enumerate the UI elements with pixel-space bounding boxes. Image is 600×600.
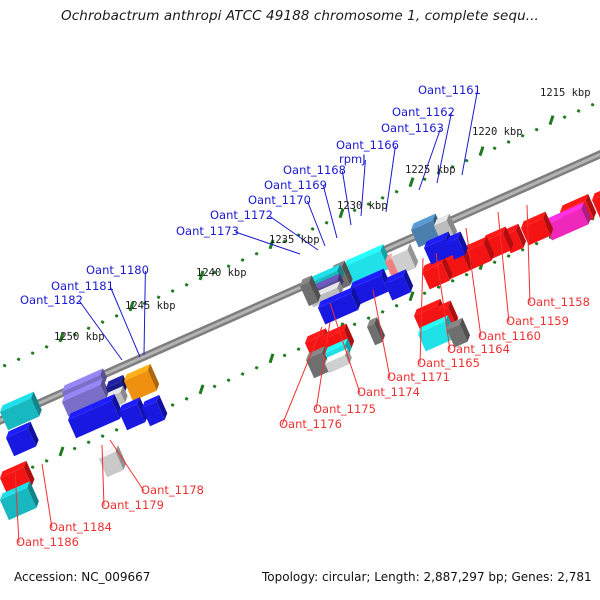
gene-label-oant_1180[interactable]: Oant_1180 xyxy=(86,265,149,277)
ruler-minor-tick xyxy=(382,311,383,314)
ruler-major-tick xyxy=(480,147,483,156)
ruler-minor-tick xyxy=(494,147,495,150)
ruler-minor-tick xyxy=(186,398,187,401)
ruler-tick-label: 1245 kbp xyxy=(125,301,176,312)
ruler-minor-tick xyxy=(102,435,103,438)
gene-label-oant_1170[interactable]: Oant_1170 xyxy=(248,195,311,207)
ruler-minor-tick xyxy=(522,249,523,252)
gene-label-oant_1172[interactable]: Oant_1172 xyxy=(210,210,273,222)
ruler-minor-tick xyxy=(172,404,173,407)
gene-label-oant_1165[interactable]: Oant_1165 xyxy=(417,358,480,370)
ruler-minor-tick xyxy=(32,466,33,469)
page-title: Ochrobactrum anthropi ATCC 49188 chromos… xyxy=(0,8,600,24)
ruler-minor-tick xyxy=(382,197,383,200)
genome-viewer: Ochrobactrum anthropi ATCC 49188 chromos… xyxy=(0,0,600,600)
ruler-minor-tick xyxy=(424,292,425,295)
ruler-minor-tick xyxy=(438,286,439,289)
ruler-minor-tick xyxy=(32,352,33,355)
ruler-minor-tick xyxy=(536,242,537,245)
ruler-minor-tick xyxy=(536,128,537,131)
ruler-minor-tick xyxy=(18,358,19,361)
label-leader-line xyxy=(144,271,145,355)
ruler-minor-tick xyxy=(326,221,327,224)
ruler-minor-tick xyxy=(102,321,103,324)
ruler-tick-label: 1235 kbp xyxy=(269,235,320,246)
ruler-minor-tick xyxy=(466,159,467,162)
gene-glyph[interactable] xyxy=(122,364,161,401)
ruler-minor-tick xyxy=(396,304,397,307)
ruler-major-tick xyxy=(550,116,553,125)
ruler-minor-tick xyxy=(186,284,187,287)
gene-label-oant_1162[interactable]: Oant_1162 xyxy=(392,107,455,119)
label-leader-line xyxy=(342,171,351,225)
gene-label-oant_1184[interactable]: Oant_1184 xyxy=(49,522,112,534)
ruler-minor-tick xyxy=(508,255,509,258)
ruler-major-tick xyxy=(270,354,273,363)
ruler-minor-tick xyxy=(354,323,355,326)
gene-label-oant_1186[interactable]: Oant_1186 xyxy=(16,537,79,549)
gene-label-oant_1174[interactable]: Oant_1174 xyxy=(357,387,420,399)
gene-label-oant_1164[interactable]: Oant_1164 xyxy=(447,344,510,356)
genome-map-canvas[interactable] xyxy=(0,40,600,555)
gene-label-oant_1173[interactable]: Oant_1173 xyxy=(176,226,239,238)
status-bar: Accession: NC_009667 Topology: circular;… xyxy=(0,560,600,600)
gene-label-oant_1163[interactable]: Oant_1163 xyxy=(381,123,444,135)
genome-map-svg[interactable] xyxy=(0,40,600,555)
gene-glyph[interactable] xyxy=(365,317,387,345)
ruler-tick-label: 1230 kbp xyxy=(337,201,388,212)
gene-label-oant_1159[interactable]: Oant_1159 xyxy=(506,316,569,328)
gene-label-oant_1175[interactable]: Oant_1175 xyxy=(313,404,376,416)
sequence-stats-text: Topology: circular; Length: 2,887,297 bp… xyxy=(262,570,592,584)
ruler-minor-tick xyxy=(312,228,313,231)
ruler-minor-tick xyxy=(214,385,215,388)
gene-label-oant_1171[interactable]: Oant_1171 xyxy=(387,372,450,384)
ruler-major-tick xyxy=(410,292,413,301)
ruler-minor-tick xyxy=(466,273,467,276)
ruler-minor-tick xyxy=(368,317,369,320)
ruler-minor-tick xyxy=(256,253,257,256)
gene-label-oant_1178[interactable]: Oant_1178 xyxy=(141,485,204,497)
gene-label-oant_1161[interactable]: Oant_1161 xyxy=(418,85,481,97)
label-leader-line xyxy=(323,186,337,238)
ruler-minor-tick xyxy=(396,190,397,193)
label-leader-line xyxy=(42,464,52,528)
gene-label-oant_1181[interactable]: Oant_1181 xyxy=(51,281,114,293)
ruler-minor-tick xyxy=(46,346,47,349)
ruler-minor-tick xyxy=(578,110,579,113)
ruler-minor-tick xyxy=(284,354,285,357)
ruler-minor-tick xyxy=(508,141,509,144)
ruler-minor-tick xyxy=(424,178,425,181)
gene-label-oant_1179[interactable]: Oant_1179 xyxy=(101,500,164,512)
ruler-minor-tick xyxy=(158,296,159,298)
gene-label-oant_1176[interactable]: Oant_1176 xyxy=(279,419,342,431)
gene-glyph[interactable] xyxy=(0,392,44,431)
ruler-minor-tick xyxy=(494,261,495,264)
ruler-tick-label: 1250 kbp xyxy=(54,332,105,343)
ruler-minor-tick xyxy=(4,364,5,367)
ruler-minor-tick xyxy=(88,327,89,330)
gene-glyph[interactable] xyxy=(97,445,128,477)
gene-label-oant_1160[interactable]: Oant_1160 xyxy=(478,331,541,343)
ruler-minor-tick xyxy=(228,379,229,382)
ruler-tick-label: 1215 kbp xyxy=(540,88,591,99)
ruler-minor-tick xyxy=(116,315,117,318)
accession-text: Accession: NC_009667 xyxy=(14,570,150,584)
gene-label-oant_1158[interactable]: Oant_1158 xyxy=(527,297,590,309)
ruler-minor-tick xyxy=(46,460,47,463)
ruler-minor-tick xyxy=(592,103,593,106)
ruler-major-tick xyxy=(410,178,413,187)
gene-label-oant_1169[interactable]: Oant_1169 xyxy=(264,180,327,192)
label-leader-line xyxy=(110,287,140,357)
ruler-minor-tick xyxy=(452,280,453,283)
ruler-minor-tick xyxy=(564,116,565,119)
ruler-minor-tick xyxy=(74,447,75,450)
ruler-tick-label: 1240 kbp xyxy=(196,268,247,279)
ruler-minor-tick xyxy=(88,441,89,444)
ruler-tick-label: 1220 kbp xyxy=(472,127,523,138)
ruler-minor-tick xyxy=(298,348,299,351)
ruler-minor-tick xyxy=(172,290,173,293)
gene-label-oant_1168[interactable]: Oant_1168 xyxy=(283,165,346,177)
ruler-minor-tick xyxy=(242,259,243,262)
gene-label-oant_1182[interactable]: Oant_1182 xyxy=(20,295,83,307)
ruler-major-tick xyxy=(200,385,203,394)
ruler-minor-tick xyxy=(256,367,257,370)
ruler-minor-tick xyxy=(242,373,243,376)
gene-label-oant_1166[interactable]: Oant_1166 xyxy=(336,140,399,152)
ruler-major-tick xyxy=(60,447,63,456)
ruler-minor-tick xyxy=(116,429,117,432)
ruler-tick-label: 1225 kbp xyxy=(405,165,456,176)
